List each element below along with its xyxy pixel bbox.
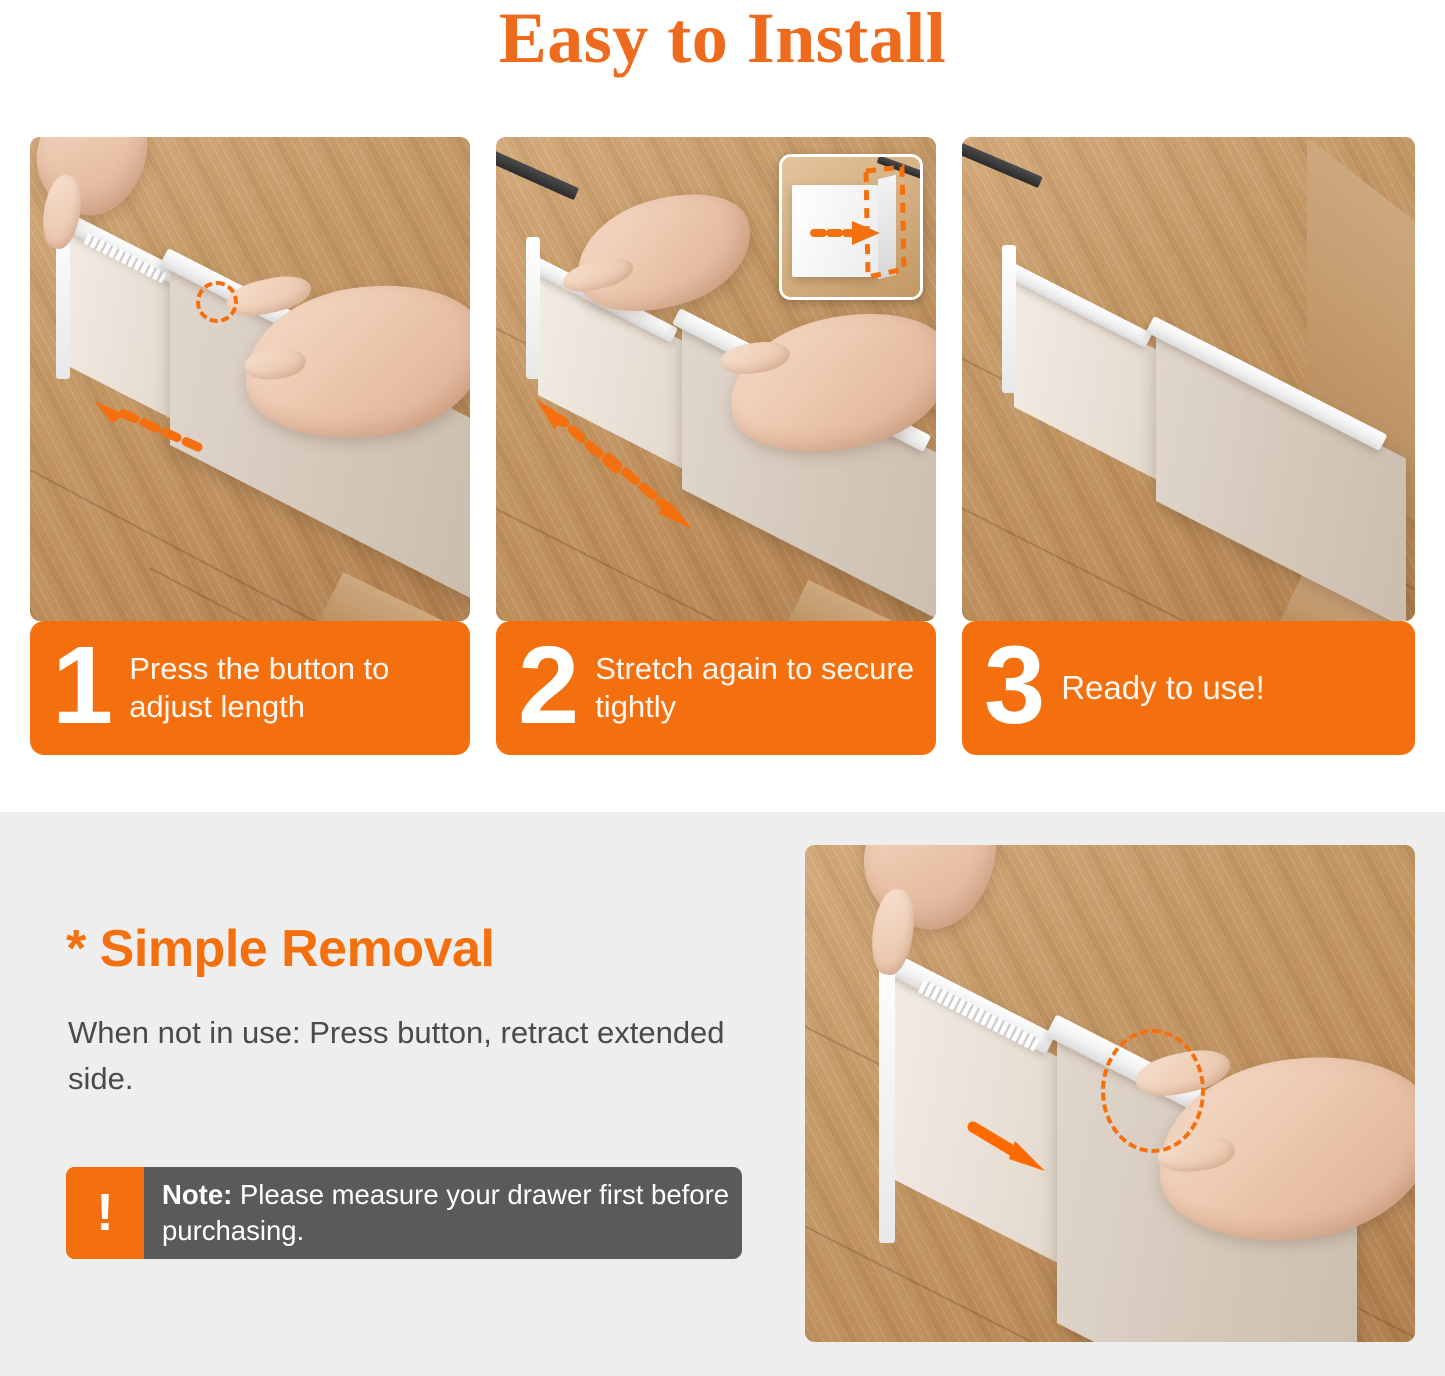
step-1-photo xyxy=(30,137,470,621)
step-2-text: Stretch again to secure tightly xyxy=(595,650,922,726)
step-card-2: 2 Stretch again to secure tightly xyxy=(496,137,936,755)
divider-end-cap xyxy=(1002,245,1016,393)
divider-end-cap xyxy=(526,237,540,379)
step-3-text: Ready to use! xyxy=(1061,668,1265,709)
exclamation-icon: ! xyxy=(66,1167,144,1259)
step-2-number: 2 xyxy=(518,639,577,734)
inset-callout-diagram xyxy=(779,154,923,300)
direction-arrow-right-icon xyxy=(965,1117,1095,1207)
button-highlight-circle xyxy=(1101,1029,1205,1153)
divider-end-cap xyxy=(879,937,895,1243)
direction-arrow-right-icon xyxy=(600,447,800,587)
step-1-number: 1 xyxy=(52,639,111,734)
note-badge: ! Note: Please measure your drawer first… xyxy=(66,1167,742,1259)
note-body: Please measure your drawer first before … xyxy=(162,1179,729,1246)
step-1-text: Press the button to adjust length xyxy=(129,650,456,726)
removal-photo xyxy=(805,845,1415,1342)
step-card-1: 1 Press the button to adjust length xyxy=(30,137,470,755)
step-3-number: 3 xyxy=(984,639,1043,734)
inset-right-arrow-icon xyxy=(810,213,900,253)
button-highlight-circle xyxy=(196,281,238,323)
direction-arrow-left-icon xyxy=(78,397,208,457)
removal-description: When not in use: Press button, retract e… xyxy=(68,1010,768,1102)
page-title: Easy to Install xyxy=(0,2,1445,74)
note-message: Note: Please measure your drawer first b… xyxy=(144,1167,742,1259)
removal-section: * Simple Removal When not in use: Press … xyxy=(0,812,1445,1376)
removal-heading: * Simple Removal xyxy=(66,919,494,979)
note-label: Note: xyxy=(162,1179,240,1210)
step-3-caption: 3 Ready to use! xyxy=(962,621,1415,755)
step-1-caption: 1 Press the button to adjust length xyxy=(30,621,470,755)
infographic-page: Easy to Install xyxy=(0,0,1445,1376)
step-3-photo xyxy=(962,137,1415,621)
step-2-photo xyxy=(496,137,936,621)
install-section: Easy to Install xyxy=(0,0,1445,812)
step-2-caption: 2 Stretch again to secure tightly xyxy=(496,621,936,755)
step-card-3: 3 Ready to use! xyxy=(962,137,1415,755)
